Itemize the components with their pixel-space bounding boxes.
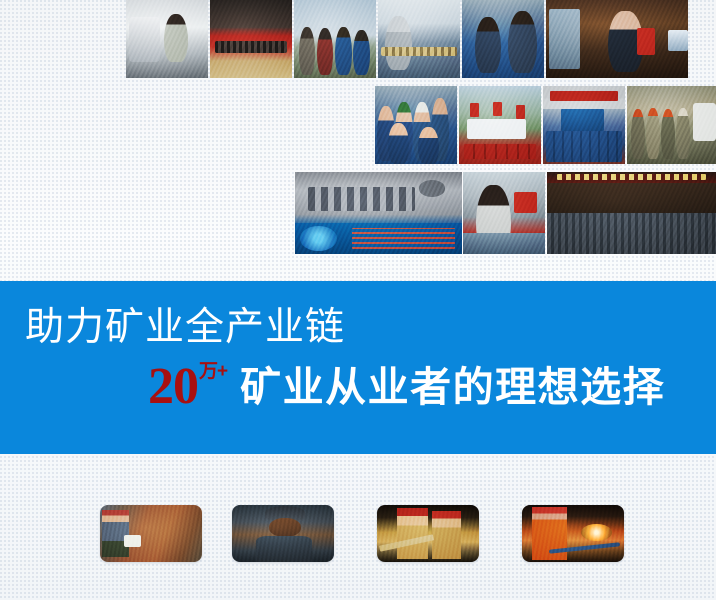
figure-shapes	[126, 0, 208, 78]
user-count-unit-superscript: 万+	[199, 362, 227, 381]
figure-shapes	[463, 172, 545, 254]
figure-shapes	[375, 86, 457, 164]
figure-shapes	[627, 86, 716, 164]
figure-shapes	[295, 172, 462, 254]
photo-outdoor-banner-group	[459, 86, 541, 164]
photo-underground-drill-crew	[377, 505, 479, 562]
photo-helmet-workers-van	[627, 86, 716, 164]
photo-collage	[0, 0, 716, 265]
photo-woman-flag-raising	[463, 172, 545, 254]
photo-lab-technician-machine	[126, 0, 208, 78]
photo-conference-group-2017	[547, 172, 716, 254]
photo-mine-building-team	[543, 86, 625, 164]
photo-award-ceremony-stage	[210, 0, 292, 78]
photo-workshop-sample-prep	[378, 0, 460, 78]
photo-blue-uniform-team	[375, 86, 457, 164]
photo-geologist-sampling-outcrop	[100, 505, 202, 562]
photo-mountain-workers-cheering	[294, 0, 376, 78]
photo-two-engineers-testing	[462, 0, 544, 78]
slogan-line-2-text: 矿业从业者的理想选择	[240, 365, 665, 409]
figure-shapes	[459, 86, 541, 164]
user-count-number: 20	[148, 361, 198, 413]
figure-shapes	[546, 0, 688, 78]
figure-shapes	[378, 0, 460, 78]
photo-executive-portrait-flag	[546, 0, 688, 78]
photo-miner-smiling-helmet	[232, 505, 334, 562]
slogan-line-2: 20 万+ 矿业从业者的理想选择	[148, 361, 665, 413]
figure-shapes	[543, 86, 625, 164]
photo-company-sign-tianzhou	[295, 172, 462, 254]
promo-banner-page: 助力矿业全产业链 20 万+ 矿业从业者的理想选择	[0, 0, 716, 600]
photo-smelter-furnace-worker	[522, 505, 624, 562]
blue-slogan-band: 助力矿业全产业链 20 万+ 矿业从业者的理想选择	[0, 281, 716, 454]
slogan-line-1: 助力矿业全产业链	[25, 306, 345, 350]
bottom-photo-strip	[0, 454, 716, 600]
figure-shapes	[294, 0, 376, 78]
figure-shapes	[462, 0, 544, 78]
figure-shapes	[210, 0, 292, 78]
figure-shapes	[547, 172, 716, 254]
